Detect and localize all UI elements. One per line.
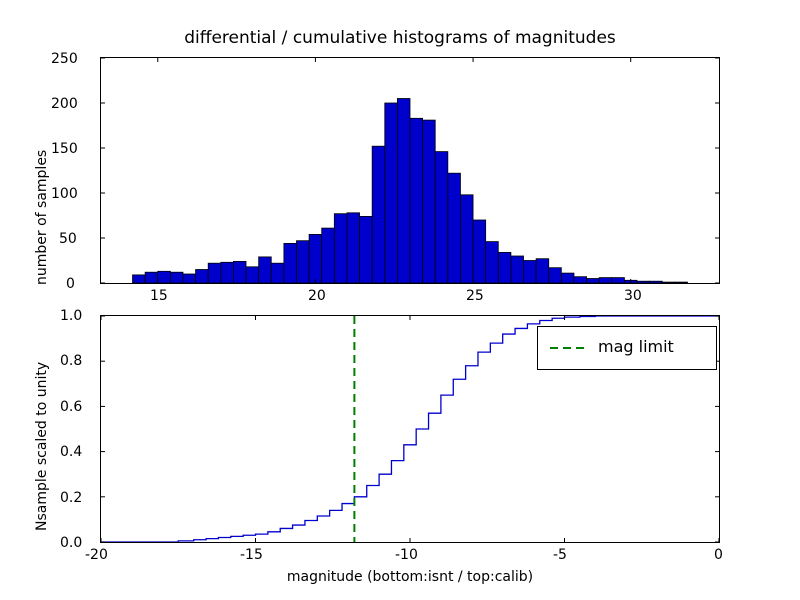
bottom-ytick-06: 0.6 bbox=[60, 399, 82, 415]
bottom-ytick-08: 0.8 bbox=[60, 353, 82, 369]
top-xtick-15: 15 bbox=[150, 288, 168, 304]
figure-canvas: differential / cumulative histograms of … bbox=[0, 0, 800, 600]
bottom-xtick-n20: -20 bbox=[85, 547, 108, 563]
bottom-xtick-n5: -5 bbox=[553, 547, 567, 563]
bottom-ytick-1: 1.0 bbox=[60, 308, 82, 324]
legend: mag limit bbox=[537, 326, 717, 370]
bottom-ytick-0: 0.0 bbox=[60, 535, 82, 551]
top-xtick-20: 20 bbox=[308, 288, 326, 304]
bottom-xtick-n10: -10 bbox=[395, 547, 418, 563]
top-ytick-250: 250 bbox=[51, 51, 78, 67]
top-ytick-150: 150 bbox=[51, 141, 78, 157]
top-ytick-100: 100 bbox=[51, 186, 78, 202]
top-histogram-axes bbox=[100, 57, 720, 284]
top-y-axis-label: number of samples bbox=[34, 150, 50, 285]
legend-label-mag-limit: mag limit bbox=[598, 337, 674, 356]
x-axis-label: magnitude (bottom:isnt / top:calib) bbox=[200, 569, 620, 585]
top-ytick-50: 50 bbox=[59, 231, 77, 247]
top-ytick-0: 0 bbox=[66, 276, 75, 292]
bottom-xtick-0: 0 bbox=[714, 547, 723, 563]
top-histogram-plot bbox=[101, 58, 719, 283]
top-xtick-25: 25 bbox=[466, 288, 484, 304]
bottom-y-axis-label: Nsample scaled to unity bbox=[34, 362, 50, 531]
page-title: differential / cumulative histograms of … bbox=[0, 28, 800, 48]
bottom-ytick-02: 0.2 bbox=[60, 490, 82, 506]
top-ytick-200: 200 bbox=[51, 96, 78, 112]
top-xtick-30: 30 bbox=[624, 288, 642, 304]
bottom-xtick-n15: -15 bbox=[240, 547, 263, 563]
bottom-ytick-04: 0.4 bbox=[60, 444, 82, 460]
